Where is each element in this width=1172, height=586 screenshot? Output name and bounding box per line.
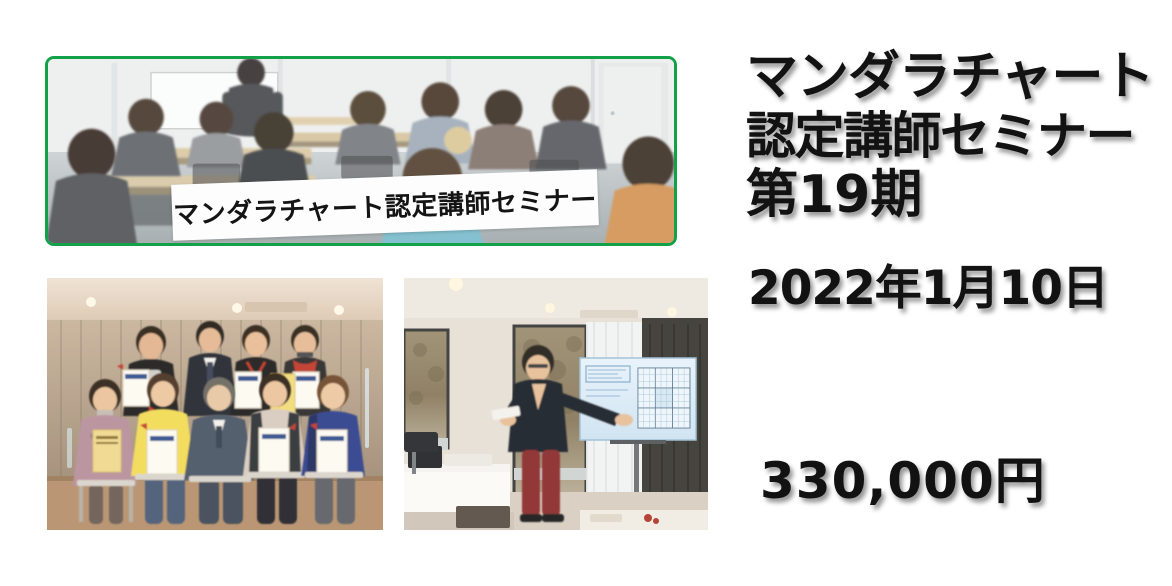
headline-line-2: 認定講師セミナー <box>746 107 1172 166</box>
headline-block: マンダラチャート 認定講師セミナー 第19期 <box>746 48 1172 225</box>
hero-banner-text: マンダラチャート認定講師セミナー <box>173 179 598 232</box>
hero-photo-frame: マンダラチャート認定講師セミナー <box>45 56 677 246</box>
headline-line-3: 第19期 <box>746 166 1172 225</box>
seminar-poster: マンダラチャート認定講師セミナー <box>0 0 1172 586</box>
headline-line-1: マンダラチャート <box>746 48 1172 107</box>
right-text-column: マンダラチャート 認定講師セミナー 第19期 2022年1月10日 330,00… <box>736 0 1172 586</box>
presenter-photo <box>404 278 708 530</box>
seminar-date: 2022年1月10日 <box>748 262 1108 316</box>
group-certificate-photo <box>47 278 383 530</box>
presenter-photo-graphic <box>404 278 708 530</box>
seminar-price: 330,000円 <box>760 452 1046 510</box>
group-certificate-photo-graphic <box>47 278 383 530</box>
